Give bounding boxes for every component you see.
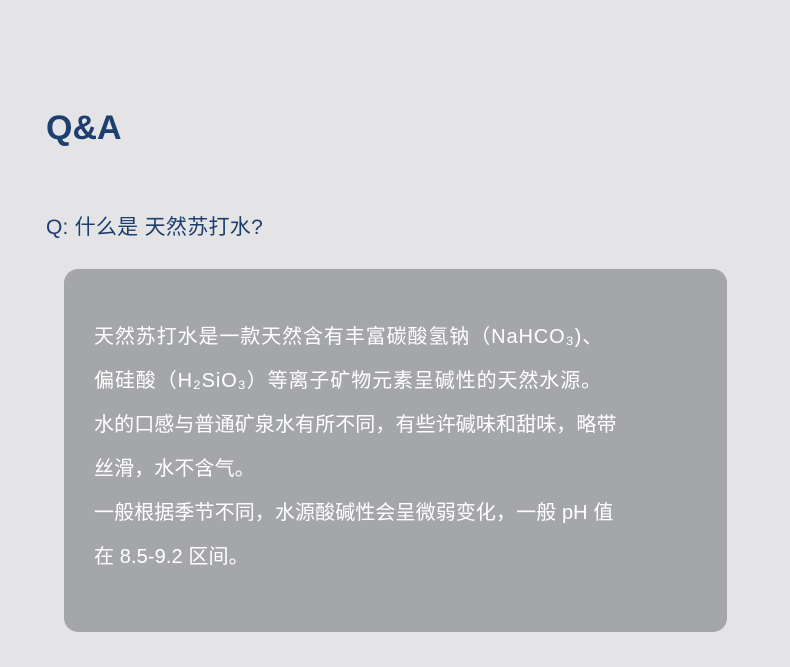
answer-line: 一般根据季节不同，水源酸碱性会呈微弱变化，一般 pH 值: [94, 491, 697, 535]
answer-line: 在 8.5-9.2 区间。: [94, 535, 697, 579]
page-title: Q&A: [46, 106, 122, 150]
answer-line: 天然苏打水是一款天然含有丰富碳酸氢钠（NaHCO₃)、: [94, 315, 697, 359]
question-row: Q: 什么是 天然苏打水?: [46, 212, 263, 244]
answer-line: 偏硅酸（H₂SiO₃）等离子矿物元素呈碱性的天然水源。: [94, 359, 697, 403]
question-text: 什么是 天然苏打水?: [75, 212, 264, 244]
question-prefix-label: Q:: [46, 212, 69, 244]
answer-line: 丝滑，水不含气。: [94, 447, 697, 491]
qa-section: Q&A Q: 什么是 天然苏打水? 天然苏打水是一款天然含有丰富碳酸氢钠（NaH…: [0, 0, 790, 667]
answer-line: 水的口感与普通矿泉水有所不同，有些许碱味和甜味，略带: [94, 403, 697, 447]
answer-body: 天然苏打水是一款天然含有丰富碳酸氢钠（NaHCO₃)、 偏硅酸（H₂SiO₃）等…: [94, 315, 697, 579]
answer-card: 天然苏打水是一款天然含有丰富碳酸氢钠（NaHCO₃)、 偏硅酸（H₂SiO₃）等…: [64, 269, 727, 632]
